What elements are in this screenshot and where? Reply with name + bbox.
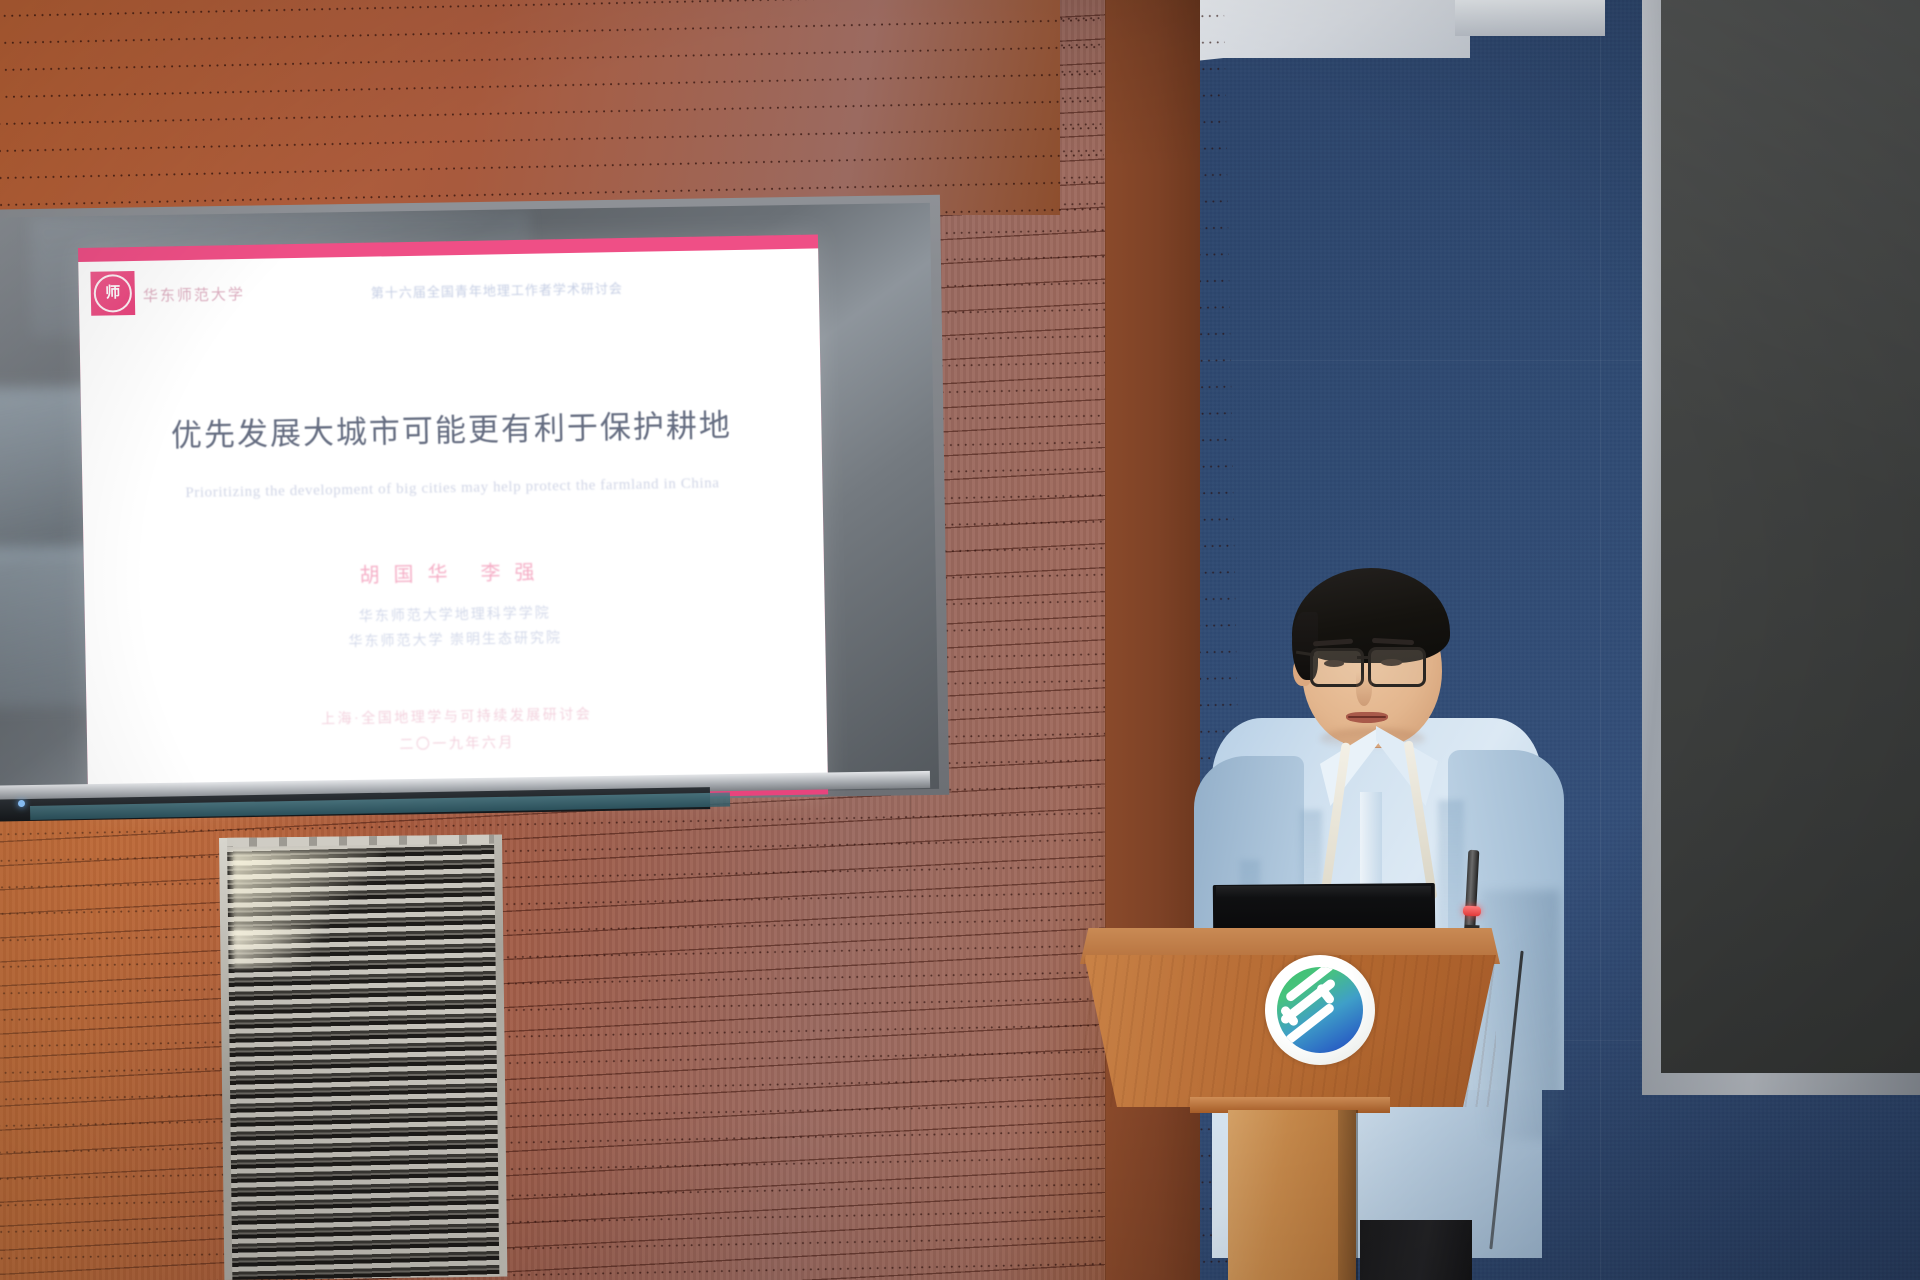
display-power-indicator-icon [18, 800, 25, 807]
presenter-trousers [1360, 1220, 1472, 1280]
ceiling-right-strip [1455, 0, 1605, 36]
globe-icon [1277, 967, 1363, 1053]
slide-title-chinese: 优先发展大城市可能更有利于保护耕地 [81, 398, 822, 457]
slide-content-area: 师 华东师范大学 第十六届全国青年地理工作者学术研讨会 优先发展大城市可能更有利… [78, 248, 828, 787]
microphone-indicator-icon [1463, 906, 1481, 917]
lectern-column [1228, 1110, 1356, 1280]
university-seal-glyph: 师 [93, 274, 132, 313]
slide-subtitle-english: Prioritizing the development of big citi… [142, 471, 762, 506]
presentation-room-photo: 师 华东师范大学 第十六届全国青年地理工作者学术研讨会 优先发展大城市可能更有利… [0, 0, 1920, 1280]
lectern-column-shadow [1338, 1110, 1358, 1280]
gray-panel-sheen [1661, 0, 1920, 1073]
presenter-arm-shadow [1480, 890, 1560, 1140]
blue-wall-seam-vertical [1600, 0, 1601, 1280]
laptop-bezel-gloss [1216, 886, 1431, 898]
wood-wall-seam-2 [1105, 0, 1106, 1280]
projected-slide: 师 华东师范大学 第十六届全国青年地理工作者学术研讨会 优先发展大城市可能更有利… [78, 234, 828, 807]
grille-highlight-2 [232, 927, 342, 968]
slide-authors: 胡国华 李强 [84, 550, 824, 593]
slide-header-conference: 第十六届全国青年地理工作者学术研讨会 [371, 278, 623, 302]
slide-affiliations: 华东师范大学地理科学学院 华东师范大学 崇明生态研究院 [125, 597, 786, 659]
slide-university-name: 华东师范大学 [143, 283, 245, 306]
lectern-emblem [1265, 955, 1375, 1065]
glasses-bridge [1357, 656, 1370, 659]
ventilation-grille [219, 835, 507, 1280]
glasses-lens-right [1368, 647, 1426, 687]
presenter-nose [1356, 672, 1372, 706]
university-seal-icon: 师 [90, 271, 135, 316]
presenter-mouth-line [1348, 716, 1386, 718]
slide-event-info: 上海·全国地理学与可持续发展研讨会 二〇一九年六月 [126, 699, 787, 764]
